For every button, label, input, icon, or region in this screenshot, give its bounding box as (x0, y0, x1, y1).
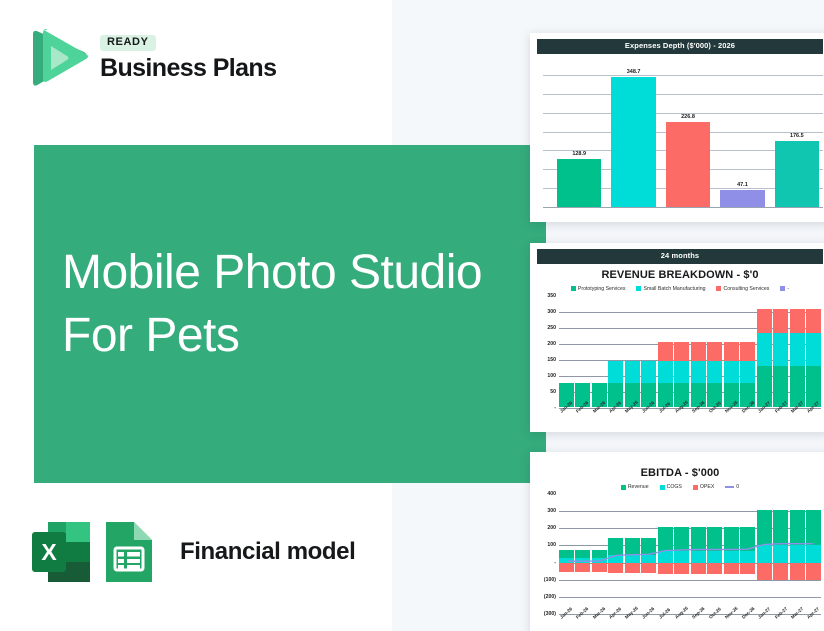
legend-label: Small Batch Manufacturing (643, 286, 705, 292)
microsoft-excel-icon: X (30, 518, 92, 586)
expenses-bar-column: 176.5 (775, 58, 819, 208)
y-axis-tick-label: 100 (537, 373, 556, 379)
financial-model-row[interactable]: X Financial model (30, 518, 355, 586)
legend-swatch (660, 485, 665, 490)
bar-segment (625, 361, 640, 383)
play-triangle-logo-icon (24, 28, 90, 88)
legend-swatch (571, 286, 576, 291)
bar-segment (724, 342, 739, 361)
bar-column (641, 296, 656, 408)
bar-column (608, 296, 623, 408)
google-sheets-icon (100, 518, 158, 586)
y-axis-tick-label: - (537, 405, 556, 411)
bar-segment (691, 361, 706, 383)
legend-item[interactable]: Consulting Services (716, 286, 769, 292)
bar-segment (773, 309, 788, 332)
bar-segment (691, 342, 706, 361)
expenses-bar (666, 122, 710, 207)
legend-item[interactable]: OPEX (693, 484, 714, 490)
legend-item[interactable]: COGS (660, 484, 682, 490)
expenses-bar (557, 159, 601, 207)
expenses-bar-column: 128.9 (557, 58, 601, 208)
y-axis-tick-label: 150 (537, 357, 556, 363)
bar-column (674, 296, 689, 408)
bar-column (707, 296, 722, 408)
bar-segment (773, 333, 788, 367)
bar-segment (740, 361, 755, 383)
ebitda-x-axis-labels: Jan-26Feb-26Mar-26Apr-26May-26Jun-26Jul-… (559, 616, 821, 621)
expenses-bar (775, 141, 819, 207)
expenses-bar-value: 47.1 (720, 182, 764, 188)
brand-logo[interactable]: READY Business Plans (24, 28, 276, 88)
brand-logo-text: READY Business Plans (100, 35, 276, 81)
expenses-bar (611, 77, 655, 208)
y-axis-tick-label: 200 (537, 341, 556, 347)
chart-card-expenses[interactable]: Expenses Depth ($'000) - 2026 128.9348.7… (530, 33, 824, 222)
revenue-chart-title: REVENUE BREAKDOWN - $'0 (537, 269, 823, 281)
expenses-chart-header: Expenses Depth ($'000) - 2026 (537, 39, 823, 54)
revenue-plot-area: 35030025020015010050- (537, 296, 823, 408)
legend-label: - (787, 286, 789, 292)
expenses-bars: 128.9348.7226.847.1176.5 (557, 58, 819, 208)
ebitda-chart-title: EBITDA - $'000 (537, 467, 823, 479)
bar-segment (707, 361, 722, 383)
y-axis-tick-label: 350 (537, 293, 556, 299)
bar-segment (806, 333, 821, 367)
y-axis-tick-label: 250 (537, 325, 556, 331)
legend-swatch (716, 286, 721, 291)
ebitda-legend: RevenueCOGSOPEX0 (537, 484, 823, 490)
bar-segment (740, 342, 755, 361)
bar-segment (806, 309, 821, 332)
bar-column (790, 296, 805, 408)
financial-model-label: Financial model (180, 538, 355, 566)
bar-segment (658, 342, 673, 361)
bar-segment (658, 361, 673, 383)
legend-swatch (693, 485, 698, 490)
bar-column (559, 296, 574, 408)
legend-swatch (780, 286, 785, 291)
bar-segment (674, 342, 689, 361)
legend-item[interactable]: Small Batch Manufacturing (636, 286, 705, 292)
expenses-bar-value: 128.9 (557, 151, 601, 157)
legend-item[interactable]: - (780, 286, 789, 292)
bar-column (658, 296, 673, 408)
ebitda-plot-area: 400300200100-(100)(200)(300) (537, 494, 823, 614)
legend-swatch (621, 485, 626, 490)
bar-column (592, 296, 607, 408)
legend-label: 0 (736, 484, 739, 490)
hero-block: Mobile Photo Studio For Pets (34, 145, 546, 483)
legend-item[interactable]: 0 (725, 484, 739, 490)
bar-segment (724, 361, 739, 383)
chart-card-revenue[interactable]: 24 months REVENUE BREAKDOWN - $'0 Protot… (530, 243, 824, 432)
expenses-bar-column: 47.1 (720, 58, 764, 208)
legend-label: OPEX (700, 484, 714, 490)
legend-label: Consulting Services (723, 286, 769, 292)
bar-column (724, 296, 739, 408)
chart-card-ebitda[interactable]: EBITDA - $'000 RevenueCOGSOPEX0 40030020… (530, 452, 824, 631)
legend-item[interactable]: Revenue (621, 484, 649, 490)
legend-swatch (725, 486, 734, 488)
profit-line-overlay (537, 494, 823, 614)
expenses-bar (720, 190, 764, 208)
slide-canvas: READY Business Plans Mobile Photo Studio… (0, 0, 824, 631)
bar-segment (641, 361, 656, 383)
ready-badge: READY (100, 35, 156, 51)
expenses-bar-value: 176.5 (775, 133, 819, 139)
bar-segment (707, 342, 722, 361)
bar-segment (790, 333, 805, 367)
legend-swatch (636, 286, 641, 291)
expenses-bar-value: 348.7 (611, 69, 655, 75)
bar-group (559, 296, 821, 408)
bar-segment (757, 309, 772, 332)
brand-name: Business Plans (100, 56, 276, 81)
bar-column (625, 296, 640, 408)
y-axis-tick-label: 50 (537, 389, 556, 395)
expenses-bar-value: 226.8 (666, 114, 710, 120)
svg-text:X: X (41, 539, 57, 565)
bar-column (691, 296, 706, 408)
bar-column (806, 296, 821, 408)
bar-column (773, 296, 788, 408)
legend-label: Revenue (628, 484, 649, 490)
bar-segment (790, 309, 805, 332)
expenses-bar-column: 348.7 (611, 58, 655, 208)
legend-item[interactable]: Prototyping Services (571, 286, 626, 292)
revenue-legend: Prototyping ServicesSmall Batch Manufact… (537, 286, 823, 292)
expenses-plot-area: 128.9348.7226.847.1176.5 (537, 58, 823, 208)
bar-segment (674, 361, 689, 383)
revenue-x-axis-labels: Jan-26Feb-26Mar-26Apr-26May-26Jun-26Jul-… (559, 410, 821, 415)
bar-column (757, 296, 772, 408)
expenses-axis-line (543, 207, 823, 208)
bar-column (740, 296, 755, 408)
y-axis-tick-label: 300 (537, 309, 556, 315)
page-title: Mobile Photo Studio For Pets (62, 241, 522, 368)
bar-segment (757, 333, 772, 367)
bar-segment (608, 361, 623, 383)
bar-column (575, 296, 590, 408)
legend-label: COGS (667, 484, 682, 490)
expenses-bar-column: 226.8 (666, 58, 710, 208)
revenue-chart-header: 24 months (537, 249, 823, 264)
legend-label: Prototyping Services (578, 286, 626, 292)
